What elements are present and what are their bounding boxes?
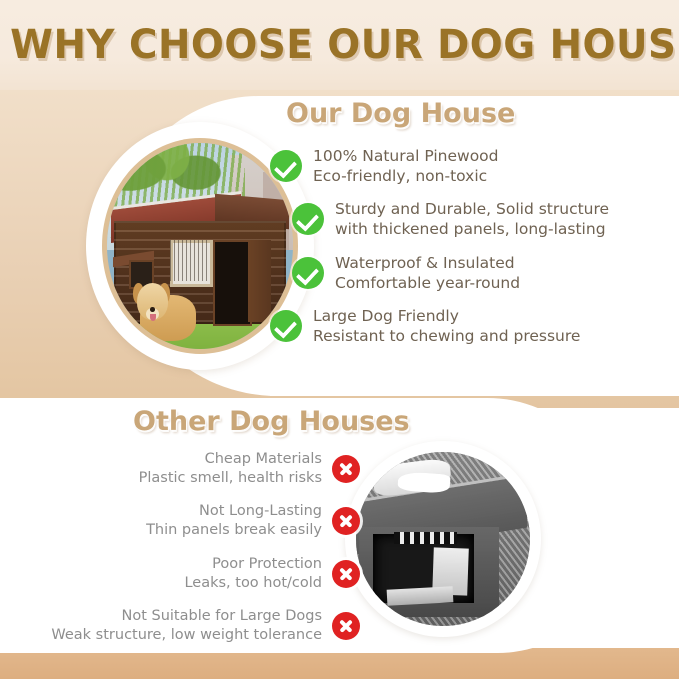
photo-doorway (213, 240, 252, 326)
bad-item-text: Not Long-Lasting Thin panels break easil… (146, 502, 322, 540)
cross-icon (332, 612, 360, 640)
cross-icon (332, 507, 360, 535)
photo-door-panel (248, 240, 270, 322)
page-title: WHY CHOOSE OUR DOG HOUSE?" (10, 22, 669, 68)
bad-item-text: Poor Protection Leaks, too hot/cold (184, 555, 322, 593)
cross-icon (332, 455, 360, 483)
good-section-heading: Our Dog House (286, 98, 515, 129)
photo-image (107, 143, 293, 349)
list-item: Large Dog Friendly Resistant to chewing … (270, 306, 670, 346)
bad-item-text: Cheap Materials Plastic smell, health ri… (139, 450, 322, 488)
list-item: Poor Protection Leaks, too hot/cold (20, 555, 360, 593)
cross-icon (332, 560, 360, 588)
bad-section-heading: Other Dog Houses (133, 406, 410, 437)
check-icon (270, 150, 302, 182)
photo-window-bars (170, 240, 207, 281)
list-item: Cheap Materials Plastic smell, health ri… (20, 450, 360, 488)
list-item: Not Suitable for Large Dogs Weak structu… (20, 607, 360, 645)
good-item-text: 100% Natural Pinewood Eco-friendly, non-… (313, 146, 499, 186)
bad-dog-house-photo (345, 441, 541, 637)
bad-item-text: Not Suitable for Large Dogs Weak structu… (51, 607, 322, 645)
list-item: Waterproof & Insulated Comfortable year-… (270, 253, 670, 293)
list-item: Sturdy and Durable, Solid structure with… (270, 199, 670, 239)
good-item-text: Large Dog Friendly Resistant to chewing … (313, 306, 580, 346)
photo-dog-tongue (150, 314, 156, 321)
list-item: 100% Natural Pinewood Eco-friendly, non-… (270, 146, 670, 186)
good-feature-list: 100% Natural Pinewood Eco-friendly, non-… (270, 146, 670, 359)
bad-photo-image (356, 452, 530, 626)
list-item: Not Long-Lasting Thin panels break easil… (20, 502, 360, 540)
check-icon (270, 310, 302, 342)
check-icon (292, 203, 324, 235)
infographic-root: WHY CHOOSE OUR DOG HOUSE?" Our Dog House (0, 0, 679, 679)
bad-photo-loose-board-2 (387, 586, 454, 605)
bad-feature-list: Cheap Materials Plastic smell, health ri… (20, 450, 360, 659)
bad-photo-jagged-edge (394, 532, 457, 544)
good-item-text: Waterproof & Insulated Comfortable year-… (335, 253, 520, 293)
good-item-text: Sturdy and Durable, Solid structure with… (335, 199, 609, 239)
check-icon (292, 257, 324, 289)
